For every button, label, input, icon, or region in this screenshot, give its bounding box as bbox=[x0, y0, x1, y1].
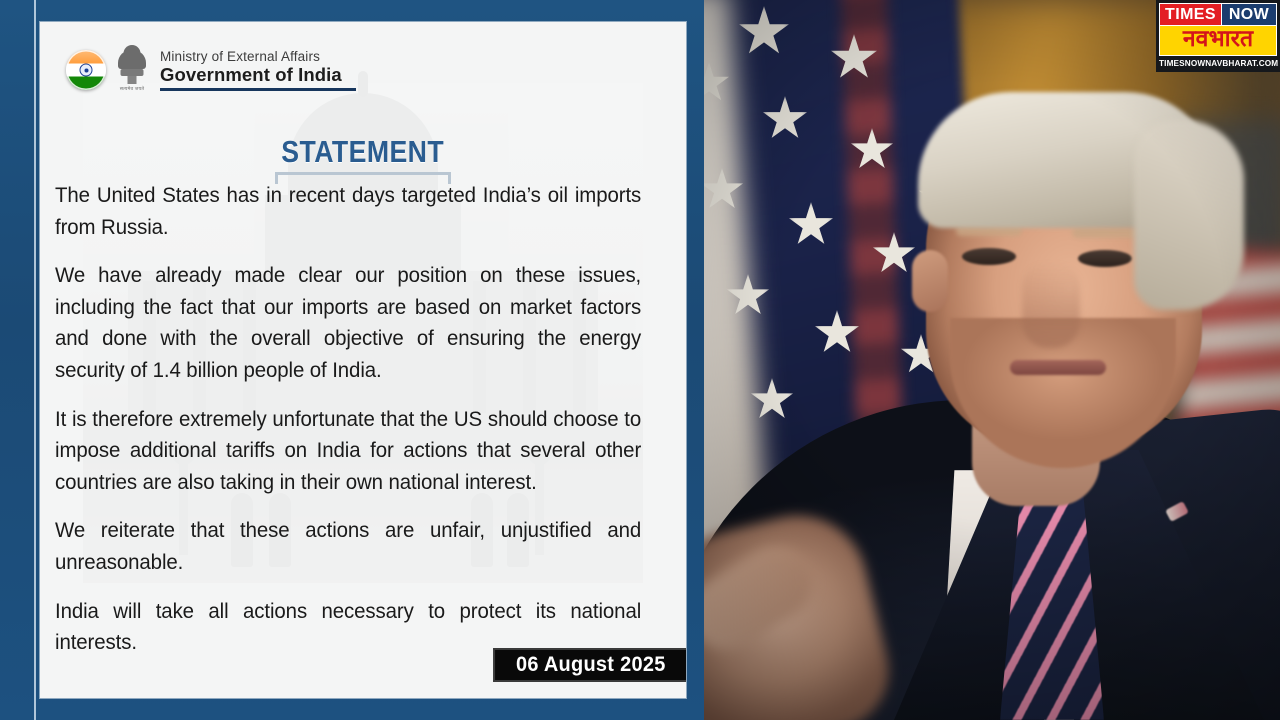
statement-date-badge: 06 August 2025 bbox=[493, 648, 686, 682]
nose bbox=[1022, 262, 1080, 348]
ear bbox=[912, 250, 948, 312]
statement-paragraph: It is therefore extremely unfortunate th… bbox=[55, 404, 641, 499]
logo-website-url: TIMESNOWNAVBHARAT.COM bbox=[1159, 56, 1277, 72]
channel-logo[interactable]: TIMES NOW नवभारत TIMESNOWNAVBHARAT.COM bbox=[1156, 0, 1280, 72]
masthead: सत्यमेव जयते Ministry of External Affair… bbox=[66, 48, 356, 92]
logo-now-text: NOW bbox=[1221, 3, 1277, 26]
india-flag-icon bbox=[66, 50, 106, 90]
statement-card-panel: सत्यमेव जयते Ministry of External Affair… bbox=[0, 0, 704, 720]
statement-title-block: STATEMENT bbox=[40, 134, 686, 184]
statement-sheet: सत्यमेव जयते Ministry of External Affair… bbox=[40, 22, 686, 698]
page-title: STATEMENT bbox=[282, 134, 445, 170]
screenshot-root: सत्यमेव जयते Ministry of External Affair… bbox=[0, 0, 1280, 720]
masthead-rule bbox=[160, 88, 356, 91]
ashoka-emblem-icon: सत्यमेव जयते bbox=[115, 48, 149, 92]
statement-paragraph: We reiterate that these actions are unfa… bbox=[55, 515, 641, 578]
government-label: Government of India bbox=[160, 64, 356, 86]
news-photo bbox=[704, 0, 1280, 720]
logo-navbharat-text: नवभारत bbox=[1159, 26, 1277, 56]
statement-paragraph: The United States has in recent days tar… bbox=[55, 180, 641, 243]
statement-paragraph: We have already made clear our position … bbox=[55, 260, 641, 386]
emblem-motto-text: सत्यमेव जयते bbox=[115, 86, 149, 92]
logo-times-text: TIMES bbox=[1159, 3, 1221, 26]
statement-body: The United States has in recent days tar… bbox=[55, 180, 672, 659]
hair-side bbox=[1134, 120, 1244, 310]
mouth bbox=[1010, 360, 1106, 375]
ministry-label: Ministry of External Affairs bbox=[160, 49, 356, 65]
